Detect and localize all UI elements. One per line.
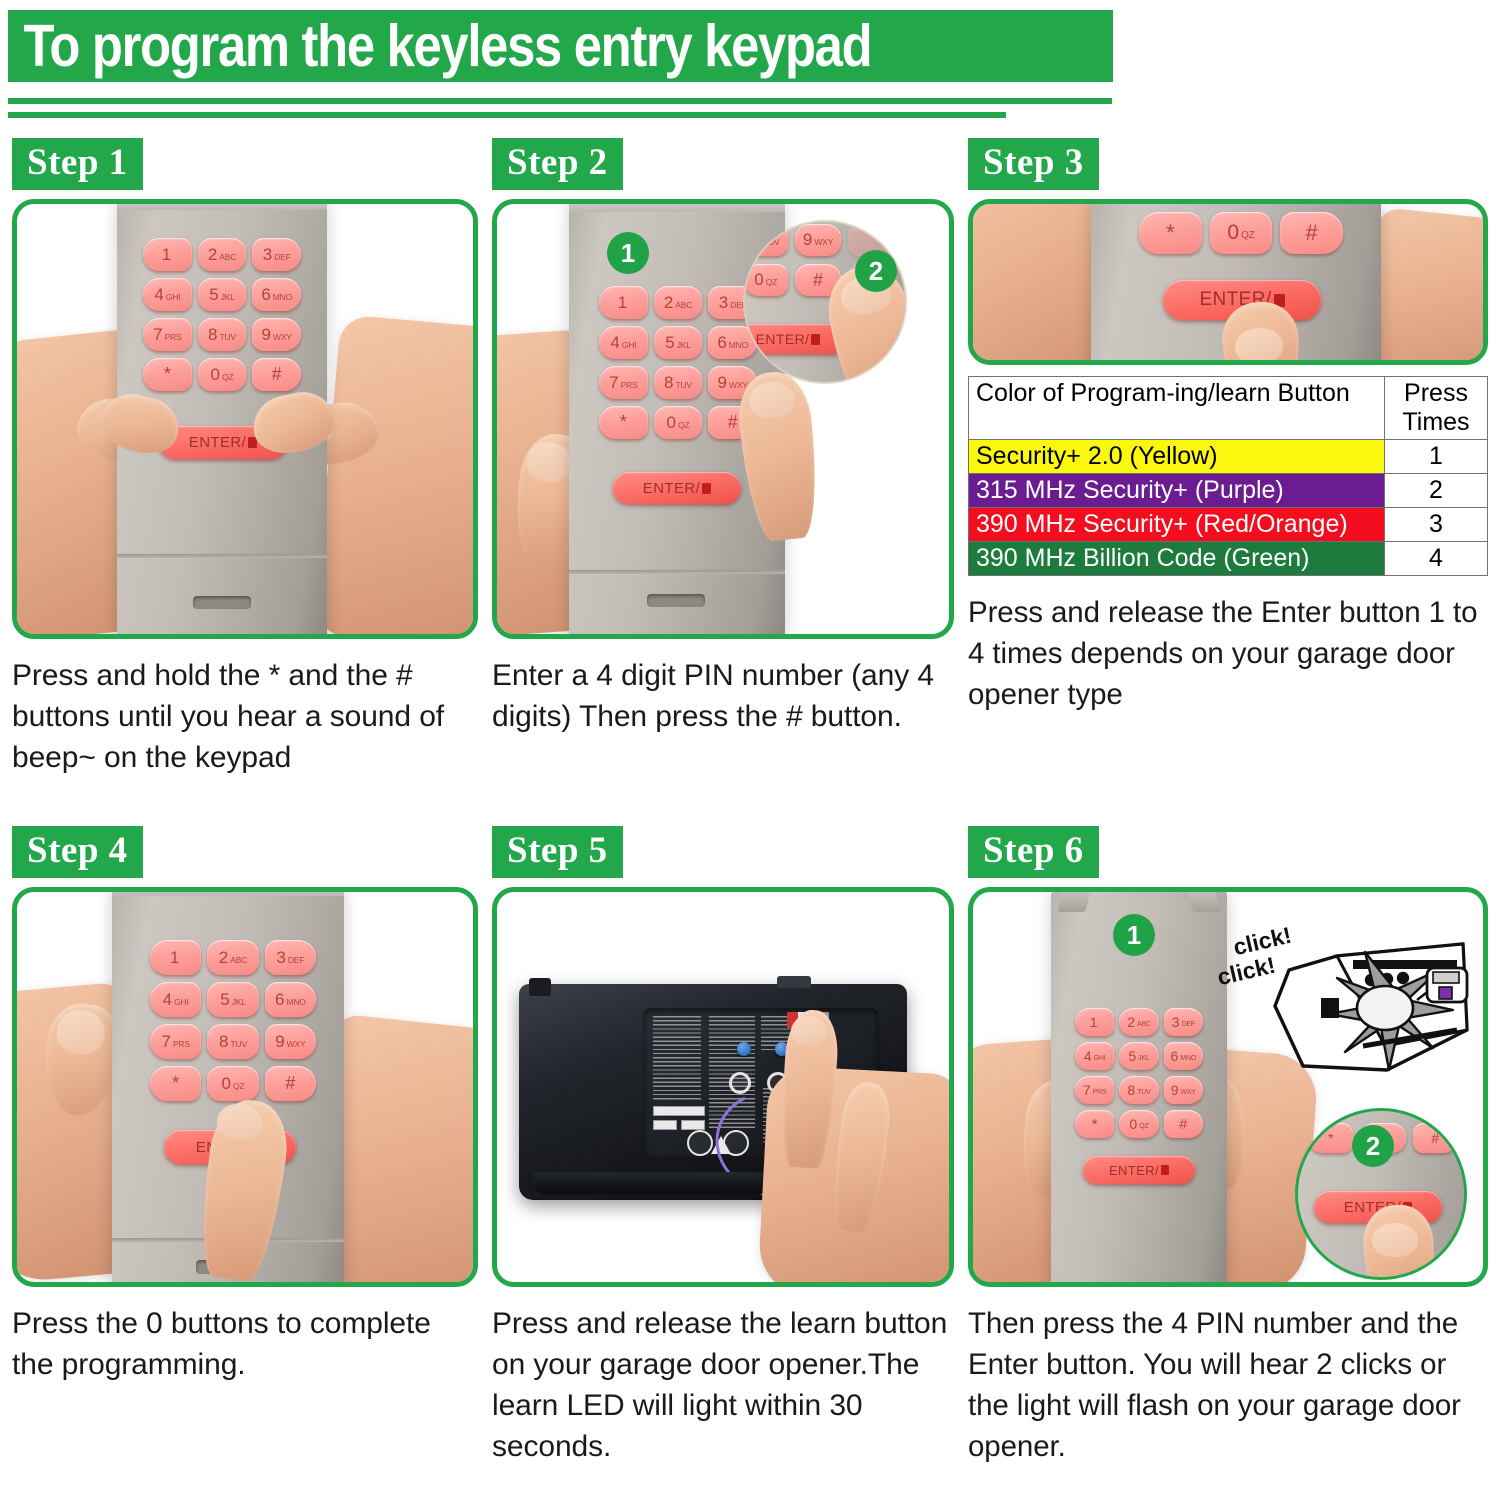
opener-model-box-2 xyxy=(653,1120,677,1130)
key-sub: PRS xyxy=(621,380,638,390)
step-6-cell: Step 6 1 xyxy=(968,826,1488,1467)
key-label: 5 xyxy=(665,333,674,353)
key-8[interactable]: 8 TUV xyxy=(207,1024,258,1059)
keypad-grid-6: 1 2 ABC 3 DEF xyxy=(1075,1008,1203,1138)
key-sub: ABC xyxy=(675,300,692,310)
key-sub: TUV xyxy=(1137,1089,1150,1096)
key-7[interactable]: 7 PRS xyxy=(599,366,648,399)
opener-model-box-1 xyxy=(653,1106,705,1116)
key-5[interactable]: 5 JKL xyxy=(198,278,247,311)
step-4-caption: Press the 0 buttons to complete the prog… xyxy=(12,1303,478,1385)
key-9[interactable]: 9 WXY xyxy=(265,1024,316,1059)
key-3-label: 3 xyxy=(263,245,272,265)
magnifier-inset-step6: * 0 QZ # ENTER/ xyxy=(1295,1108,1467,1280)
key-sub: GHI xyxy=(174,997,189,1007)
inset-key-9[interactable]: 9 WXY xyxy=(795,224,840,256)
key-label: # xyxy=(1431,1130,1439,1146)
key-sub: MNO xyxy=(286,997,305,1007)
key-sub: JKL xyxy=(677,340,691,350)
key-sub: GHI xyxy=(622,340,637,350)
key-sub: WXY xyxy=(814,237,833,247)
key-sub: JKL xyxy=(1138,1055,1149,1062)
key-star[interactable]: * xyxy=(599,406,648,439)
key-6[interactable]: 6 MNO xyxy=(252,278,301,311)
step-6-photo: 1 2 ABC 3 DEF xyxy=(968,887,1488,1287)
enter-button-label: ENTER/ xyxy=(1109,1163,1159,1178)
key-5[interactable]: 5 JKL xyxy=(654,326,703,359)
key-sub: WXY xyxy=(1181,1089,1196,1096)
key-label: 3 xyxy=(276,948,285,968)
table-header-color: Color of Program-ing/learn Button xyxy=(969,377,1385,440)
key-9[interactable]: 9 WXY xyxy=(252,318,301,351)
key-sub: QZ xyxy=(766,277,777,287)
enter-arrow-icon xyxy=(702,483,711,494)
key-label: 9 xyxy=(718,373,727,393)
key-5-label: 5 xyxy=(209,285,218,305)
key-sub: DEF xyxy=(288,955,304,965)
key-sub: DEF xyxy=(1182,1021,1195,1028)
key-label: 0 xyxy=(1129,1116,1137,1132)
table-cell-label: 315 MHz Security+ (Purple) xyxy=(969,474,1385,508)
key-label: 4 xyxy=(610,333,619,353)
key-8-sub: TUV xyxy=(220,332,236,342)
key-2-label: 2 xyxy=(208,245,217,265)
key-label: * xyxy=(620,412,627,433)
key-4-sub: GHI xyxy=(166,292,181,302)
table-cell-times: 1 xyxy=(1385,440,1488,474)
table-row: 390 MHz Security+ (Red/Orange) 3 xyxy=(969,508,1488,542)
battery-slot-2 xyxy=(647,594,705,607)
key-0-label: 0 xyxy=(211,365,220,385)
step-4-photo: 1 2 ABC 3 DEF xyxy=(12,887,478,1287)
step-6-caption: Then press the 4 PIN number and the Ente… xyxy=(968,1303,1488,1467)
step-3-badge: Step 3 xyxy=(968,138,1099,190)
key-sub: PRS xyxy=(173,1039,190,1049)
garage-opener-line-drawing xyxy=(1267,934,1477,1084)
key-label: 7 xyxy=(161,1032,170,1052)
key-label: 6 xyxy=(1171,1048,1179,1064)
key-label: # xyxy=(1306,220,1318,246)
table-row: 390 MHz Billion Code (Green) 4 xyxy=(969,542,1488,576)
enter-button-label: ENTER/ xyxy=(756,331,810,347)
key-6-label: 6 xyxy=(261,285,270,305)
key-sub: PRS xyxy=(1093,1089,1107,1096)
device-seam-2 xyxy=(569,570,785,574)
key-label: # xyxy=(285,1073,295,1094)
adjustment-ring-1 xyxy=(729,1072,751,1094)
key-3[interactable]: 3 DEF xyxy=(1164,1008,1203,1036)
keypad-grid-4: 1 2 ABC 3 DEF xyxy=(150,940,316,1101)
step-5-cell: Step 5 xyxy=(492,826,954,1467)
header-banner: To program the keyless entry keypad xyxy=(8,10,1113,82)
key-star[interactable]: * xyxy=(1075,1110,1114,1138)
step-1-badge: Step 1 xyxy=(12,138,143,190)
key-5-sub: JKL xyxy=(221,292,235,302)
key-sub: JKL xyxy=(232,997,246,1007)
key-2[interactable]: 2 ABC xyxy=(207,940,258,975)
key-sub: TUV xyxy=(231,1039,247,1049)
key-5[interactable]: 5 JKL xyxy=(207,982,258,1017)
key-sub: QZ xyxy=(1139,1123,1148,1130)
step-3-photo: * 0 QZ # ENTER/ xyxy=(968,199,1488,365)
step-5-badge: Step 5 xyxy=(492,826,623,878)
key-star-label: * xyxy=(164,364,171,385)
key-label: 9 xyxy=(1171,1082,1179,1098)
key-sub: WXY xyxy=(287,1039,306,1049)
no-entanglement-warning-icon xyxy=(687,1130,713,1156)
key-4[interactable]: 4 GHI xyxy=(150,982,201,1017)
key-label: # xyxy=(728,412,738,433)
key-2[interactable]: 2 ABC xyxy=(198,238,247,271)
opener-flash-illustration: click! click! xyxy=(1219,908,1473,1088)
right-hand xyxy=(313,314,478,639)
key-label: 8 xyxy=(219,1032,228,1052)
table-cell-label: Security+ 2.0 (Yellow) xyxy=(969,440,1385,474)
key-label: 0 xyxy=(1227,221,1239,245)
enter-button-label: ENTER/ xyxy=(643,480,700,497)
key-0[interactable]: 0 QZ xyxy=(1210,212,1273,254)
key-0[interactable]: 0 QZ xyxy=(654,406,703,439)
device-seam xyxy=(117,554,327,558)
key-sub: ABC xyxy=(230,955,247,965)
inset-fingernail-6 xyxy=(1372,1223,1418,1257)
callout-badge-2: 2 xyxy=(1352,1125,1394,1167)
key-9-sub: WXY xyxy=(273,332,292,342)
key-label: 1 xyxy=(1090,1014,1098,1030)
header-divider-bottom xyxy=(8,112,1006,118)
key-4[interactable]: 4 GHI xyxy=(143,278,192,311)
table-cell-label: 390 MHz Billion Code (Green) xyxy=(969,542,1385,576)
step-4-cell: Step 4 1 xyxy=(12,826,478,1385)
key-1[interactable]: 1 xyxy=(143,238,192,271)
key-9-label: 9 xyxy=(262,325,271,345)
key-label: 0 xyxy=(754,270,763,290)
table-header-times: Press Times xyxy=(1385,377,1488,440)
key-7[interactable]: 7 PRS xyxy=(143,318,192,351)
key-label: 0 xyxy=(667,413,676,433)
key-0[interactable]: 0 QZ xyxy=(207,1066,258,1101)
step-1-caption: Press and hold the * and the # buttons u… xyxy=(12,655,478,778)
step-3-caption: Press and release the Enter button 1 to … xyxy=(968,592,1488,715)
table-cell-label: 390 MHz Security+ (Red/Orange) xyxy=(969,508,1385,542)
opener-tab-right xyxy=(777,976,811,988)
key-sub: MNO xyxy=(1180,1055,1196,1062)
opener-tab-left xyxy=(529,978,551,996)
key-1[interactable]: 1 xyxy=(1075,1008,1114,1036)
key-0[interactable]: 0 QZ xyxy=(1119,1110,1158,1138)
device-bevel-2 xyxy=(569,199,785,212)
key-3-sub: DEF xyxy=(274,252,290,262)
key-label: 8 xyxy=(1127,1082,1135,1098)
instruction-sheet: To program the keyless entry keypad Step… xyxy=(0,0,1498,1498)
callout-badge-1: 1 xyxy=(607,232,649,274)
enter-arrow-icon xyxy=(811,334,820,345)
keypad-grid-2: 1 2 ABC 3 DEF xyxy=(599,286,757,439)
key-label: 0 xyxy=(222,1074,231,1094)
key-label: 6 xyxy=(717,333,726,353)
key-6[interactable]: 6 MNO xyxy=(265,982,316,1017)
key-6[interactable]: 6 MNO xyxy=(1164,1042,1203,1070)
key-label: 3 xyxy=(719,293,728,313)
key-hash-label: # xyxy=(272,364,282,385)
key-7[interactable]: 7 PRS xyxy=(1075,1076,1114,1104)
key-sub: QZ xyxy=(233,1081,244,1091)
key-label: 8 xyxy=(664,373,673,393)
key-label: 9 xyxy=(803,230,812,250)
key-label: 4 xyxy=(1084,1048,1092,1064)
key-0-sub: QZ xyxy=(222,372,233,382)
key-3[interactable]: 3 DEF xyxy=(265,940,316,975)
press-times-table: Color of Program-ing/learn Button Press … xyxy=(968,376,1488,576)
wall-bracket-left xyxy=(1057,887,1092,912)
page-title: To program the keyless entry keypad xyxy=(8,16,871,76)
key-hash[interactable]: # xyxy=(1164,1110,1203,1138)
opener-label-column-1 xyxy=(653,1016,701,1100)
key-hash[interactable]: # xyxy=(252,358,301,391)
key-1-label: 1 xyxy=(162,245,171,265)
key-5[interactable]: 5 JKL xyxy=(1119,1042,1158,1070)
table-row: Security+ 2.0 (Yellow) 1 xyxy=(969,440,1488,474)
key-8[interactable]: 8 TUV xyxy=(198,318,247,351)
keypad-bottom-row-3: * 0 QZ # xyxy=(1139,212,1343,254)
inset-key-8[interactable]: 8 TUV xyxy=(745,224,788,256)
key-label: 5 xyxy=(1128,1048,1136,1064)
limit-dial-up[interactable] xyxy=(737,1042,751,1056)
step-1-photo: 1 2 ABC 3 DEF xyxy=(12,199,478,639)
key-8[interactable]: 8 TUV xyxy=(654,366,703,399)
key-star[interactable]: * xyxy=(1139,212,1202,254)
key-9[interactable]: 9 WXY xyxy=(1164,1076,1203,1104)
callout-badge-2: 2 xyxy=(855,250,897,292)
key-2[interactable]: 2 ABC xyxy=(654,286,703,319)
key-label: 2 xyxy=(219,948,228,968)
key-label: 6 xyxy=(275,990,284,1010)
magnifier-inset-step2: 8 TUV 9 WXY 0 QZ xyxy=(745,222,905,382)
key-label: 1 xyxy=(170,948,179,968)
key-sub: QZ xyxy=(1241,230,1255,241)
enter-button-label: ENTER/ xyxy=(189,434,246,451)
step-2-photo: 1 2 ABC 3 DEF xyxy=(492,199,954,639)
opener-model-box-3 xyxy=(681,1120,705,1130)
step-5-caption: Press and release the learn button on yo… xyxy=(492,1303,954,1467)
battery-slot xyxy=(193,596,251,609)
step-6-badge: Step 6 xyxy=(968,826,1099,878)
key-sub: ABC xyxy=(1137,1021,1151,1028)
step-5-photo xyxy=(492,887,954,1287)
step-2-cell: Step 2 1 xyxy=(492,138,954,737)
steps-grid: Step 1 xyxy=(0,138,1498,1498)
key-label: 2 xyxy=(664,293,673,313)
key-hash[interactable]: # xyxy=(1280,212,1343,254)
step-3-cell: Step 3 * 0 QZ xyxy=(968,138,1488,715)
key-label: 4 xyxy=(163,990,172,1010)
key-label: * xyxy=(1092,1116,1098,1133)
key-6-sub: MNO xyxy=(273,292,292,302)
key-label: 7 xyxy=(1083,1082,1091,1098)
key-label: 2 xyxy=(1127,1014,1135,1030)
key-4[interactable]: 4 GHI xyxy=(599,326,648,359)
device-bevel xyxy=(117,199,327,210)
key-label: 9 xyxy=(275,1032,284,1052)
wall-bracket-right xyxy=(1185,887,1220,912)
table-row: 315 MHz Security+ (Purple) 2 xyxy=(969,474,1488,508)
key-label: * xyxy=(1166,220,1175,246)
key-7-sub: PRS xyxy=(165,332,182,342)
enter-button-2[interactable]: ENTER/ xyxy=(613,472,741,504)
key-label: 8 xyxy=(752,230,761,250)
key-4[interactable]: 4 GHI xyxy=(1075,1042,1114,1070)
key-label: # xyxy=(813,270,823,291)
key-2[interactable]: 2 ABC xyxy=(1119,1008,1158,1036)
keypad-grid: 1 2 ABC 3 DEF xyxy=(143,238,301,391)
key-0[interactable]: 0 QZ xyxy=(198,358,247,391)
step-2-badge: Step 2 xyxy=(492,138,623,190)
key-7[interactable]: 7 PRS xyxy=(150,1024,201,1059)
key-label: * xyxy=(172,1073,179,1094)
inset-key-0[interactable]: 0 QZ xyxy=(745,264,788,296)
device-bevel-4 xyxy=(112,887,344,896)
key-8-label: 8 xyxy=(208,325,217,345)
header-divider-top xyxy=(8,98,1112,104)
key-1[interactable]: 1 xyxy=(150,940,201,975)
step-4-badge: Step 4 xyxy=(12,826,143,878)
key-label: 5 xyxy=(220,990,229,1010)
table-header-row: Color of Program-ing/learn Button Press … xyxy=(969,377,1488,440)
key-hash[interactable]: # xyxy=(265,1066,316,1101)
key-3[interactable]: 3 DEF xyxy=(252,238,301,271)
key-label: * xyxy=(1328,1130,1333,1146)
key-1[interactable]: 1 xyxy=(599,286,648,319)
key-label: # xyxy=(1179,1116,1187,1133)
key-label: 1 xyxy=(618,293,627,313)
key-star[interactable]: * xyxy=(143,358,192,391)
step-2-caption: Enter a 4 digit PIN number (any 4 digits… xyxy=(492,655,954,737)
key-sub: TUV xyxy=(763,237,779,247)
key-star[interactable]: * xyxy=(150,1066,201,1101)
key-sub: QZ xyxy=(678,420,689,430)
key-8[interactable]: 8 TUV xyxy=(1119,1076,1158,1104)
step-1-cell: Step 1 xyxy=(12,138,478,778)
key-7-label: 7 xyxy=(153,325,162,345)
table-cell-times: 2 xyxy=(1385,474,1488,508)
table-cell-times: 4 xyxy=(1385,542,1488,576)
key-2-sub: ABC xyxy=(219,252,236,262)
key-label: 7 xyxy=(609,373,618,393)
enter-arrow-icon xyxy=(1161,1165,1169,1175)
key-4-label: 4 xyxy=(154,285,163,305)
callout-badge-1: 1 xyxy=(1113,914,1155,956)
table-cell-times: 3 xyxy=(1385,508,1488,542)
inset-key-hash[interactable]: # xyxy=(1413,1123,1458,1153)
key-sub: GHI xyxy=(1094,1055,1106,1062)
key-label: 3 xyxy=(1172,1014,1180,1030)
inset-key-star[interactable]: * xyxy=(1308,1123,1353,1153)
key-sub: TUV xyxy=(676,380,692,390)
enter-button-6[interactable]: ENTER/ xyxy=(1083,1156,1195,1184)
